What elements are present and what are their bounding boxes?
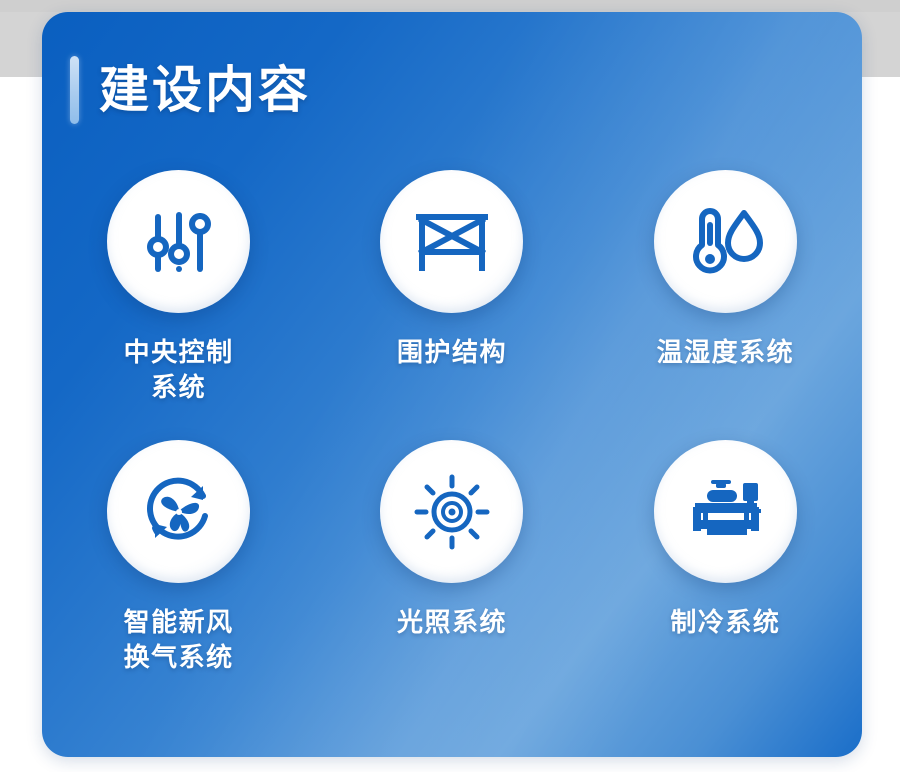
item-label-line1: 围护结构 (397, 337, 507, 367)
grid-item-enclosure-structure[interactable]: 围护结构 (315, 170, 588, 440)
item-label-line1: 温湿度系统 (657, 337, 795, 367)
item-label-line2: 系统 (124, 370, 234, 405)
item-label-cooling: 制冷系统 (670, 605, 780, 640)
item-label-lighting: 光照系统 (397, 605, 507, 640)
item-label-temp-humidity: 温湿度系统 (657, 335, 795, 370)
sun-light-icon (380, 440, 523, 583)
item-label-fresh-air: 智能新风 换气系统 (124, 605, 234, 675)
item-label-line1: 智能新风 (124, 607, 234, 637)
item-label-line1: 光照系统 (397, 607, 507, 637)
items-grid: 中央控制 系统 围护结构 (42, 170, 862, 710)
thermometer-droplet-icon (654, 170, 797, 313)
card-header: 建设内容 (70, 56, 311, 124)
title-accent-bar (70, 56, 79, 124)
grid-item-central-control[interactable]: 中央控制 系统 (42, 170, 315, 440)
construction-content-card: 建设内容 中 (42, 12, 862, 757)
grid-item-temp-humidity[interactable]: 温湿度系统 (589, 170, 862, 440)
truss-frame-icon (380, 170, 523, 313)
item-label-central-control: 中央控制 系统 (124, 335, 234, 405)
item-label-line1: 中央控制 (124, 337, 234, 367)
top-backdrop-strip (0, 0, 900, 12)
page-title: 建设内容 (99, 65, 311, 115)
fan-circulation-icon (107, 440, 250, 583)
grid-item-cooling[interactable]: 制冷系统 (589, 440, 862, 710)
grid-item-lighting[interactable]: 光照系统 (315, 440, 588, 710)
chiller-machine-icon (654, 440, 797, 583)
grid-item-fresh-air[interactable]: 智能新风 换气系统 (42, 440, 315, 710)
sliders-control-icon (107, 170, 250, 313)
item-label-line2: 换气系统 (124, 640, 234, 675)
item-label-line1: 制冷系统 (670, 607, 780, 637)
item-label-enclosure-structure: 围护结构 (397, 335, 507, 370)
